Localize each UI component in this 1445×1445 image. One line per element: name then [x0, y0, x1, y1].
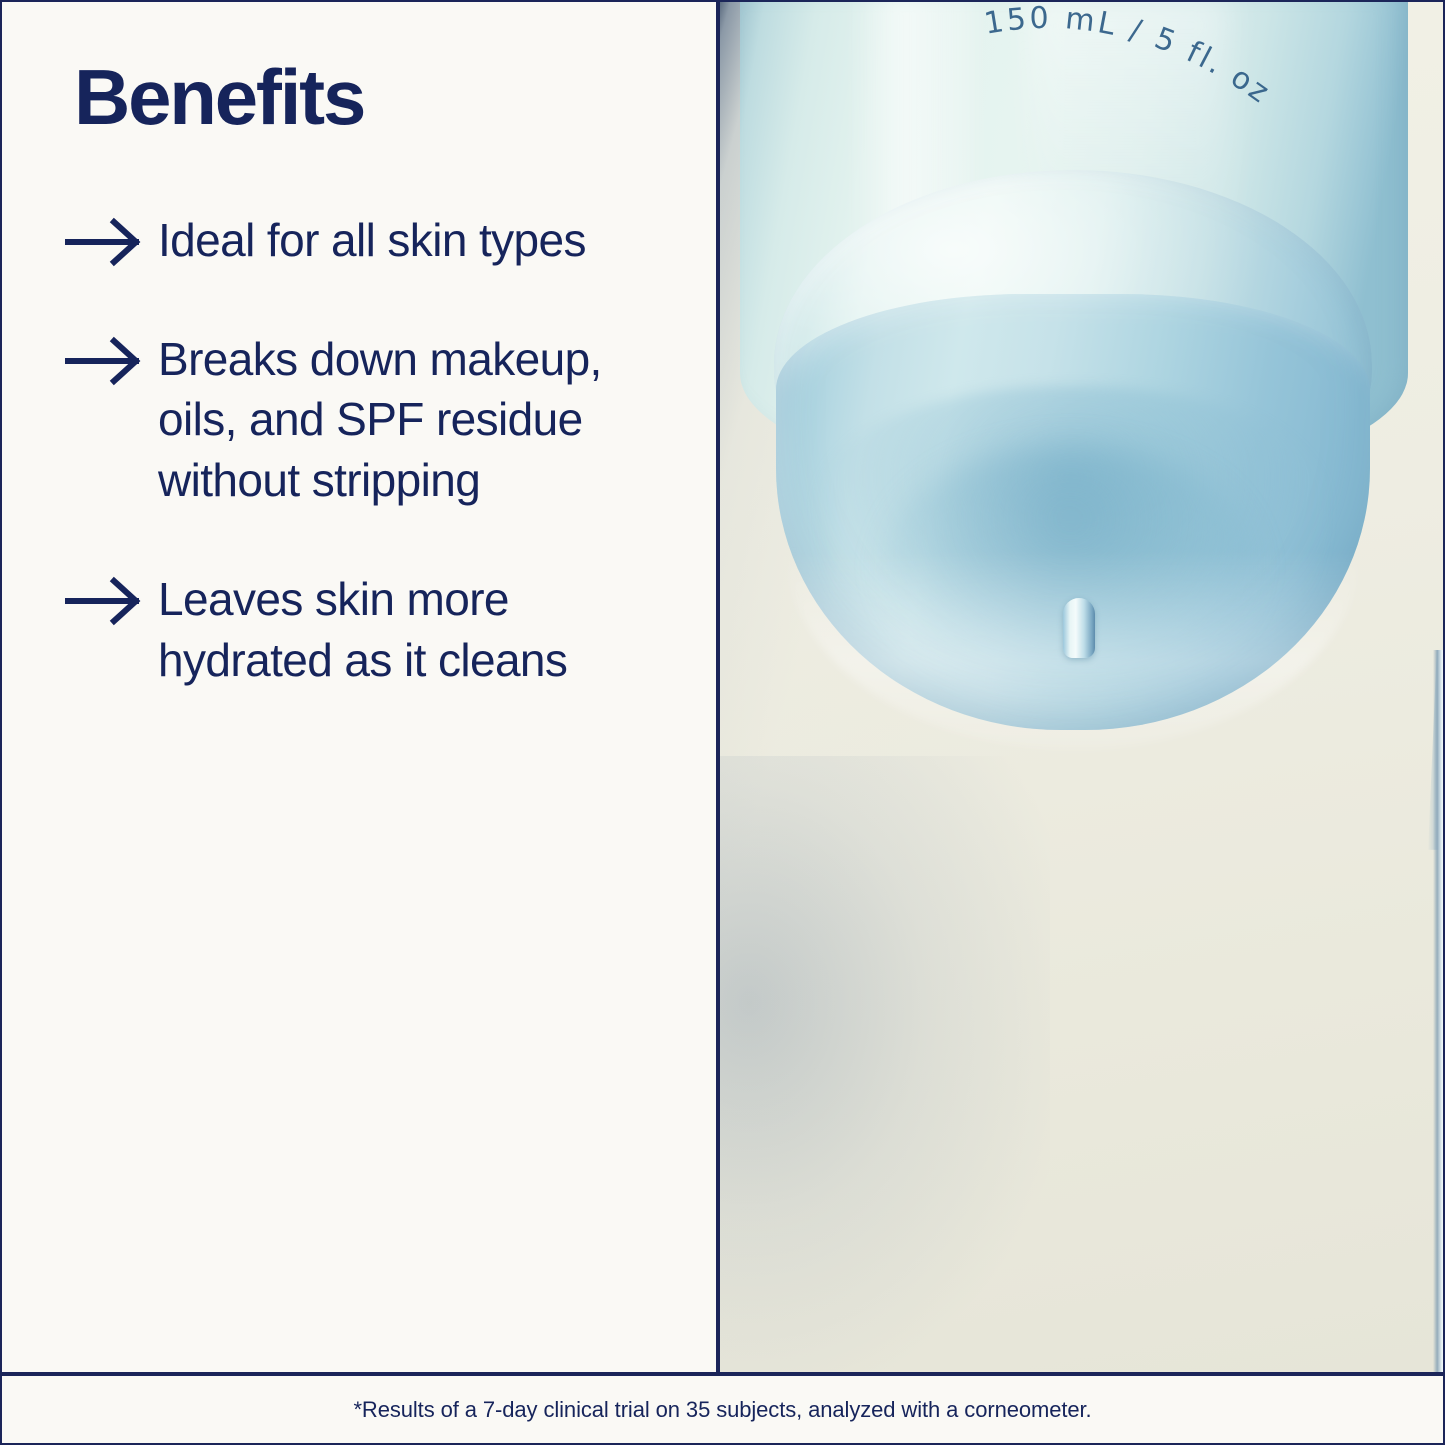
card-main-split: Benefits Ideal for all skin types — [2, 2, 1443, 1372]
footer: *Results of a 7-day clinical trial on 35… — [2, 1372, 1443, 1443]
list-item: Breaks down makeup, oils, and SPF residu… — [64, 329, 676, 511]
benefit-text: Breaks down makeup, oils, and SPF residu… — [158, 329, 628, 511]
arrow-right-icon — [64, 214, 158, 270]
footnote-disclaimer: *Results of a 7-day clinical trial on 35… — [353, 1397, 1091, 1423]
panel-divider — [716, 2, 720, 1372]
page-title: Benefits — [74, 58, 676, 136]
photo-shadow-veil — [716, 756, 1050, 1373]
list-item: Leaves skin more hydrated as it cleans — [64, 569, 676, 690]
arrow-right-icon — [64, 333, 158, 389]
benefits-panel: Benefits Ideal for all skin types — [2, 2, 716, 1372]
benefits-list: Ideal for all skin types Breaks down mak… — [64, 210, 676, 690]
tube-nozzle — [1063, 598, 1095, 658]
benefit-text: Ideal for all skin types — [158, 210, 586, 271]
benefit-text: Leaves skin more hydrated as it cleans — [158, 569, 628, 690]
product-benefits-card: Benefits Ideal for all skin types — [0, 0, 1445, 1445]
list-item: Ideal for all skin types — [64, 210, 676, 271]
product-photo: 150 mL / 5 fl. oz. — [716, 2, 1443, 1372]
gel-stream — [1433, 650, 1443, 1372]
arrow-right-icon — [64, 573, 158, 629]
product-tube: 150 mL / 5 fl. oz. — [730, 2, 1416, 794]
